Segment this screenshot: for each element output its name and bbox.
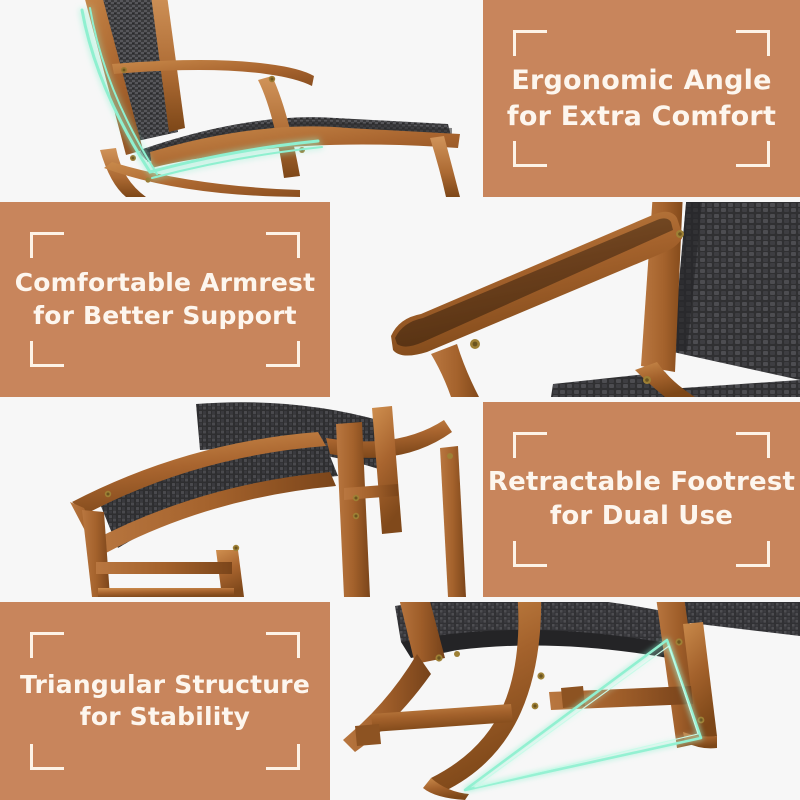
photo-panel-triangular-structure [335,602,800,800]
caption-line-2: for Dual Use [488,500,795,534]
corner-bracket-bottom-right-icon [736,141,770,167]
text-card-ergonomic-angle: Ergonomic Angle for Extra Comfort [483,0,800,197]
feature-caption: Triangular Structure for Stability [6,669,324,734]
photo-panel-retractable-footrest [0,402,478,597]
corner-bracket-top-right-icon [736,30,770,56]
feature-caption: Comfortable Armrest for Better Support [1,267,330,332]
corner-bracket-top-left-icon [513,30,547,56]
caption-line-1: Triangular Structure [20,669,310,702]
text-card-retractable-footrest: Retractable Footrest for Dual Use [483,402,800,597]
text-card-comfortable-armrest: Comfortable Armrest for Better Support [0,202,330,397]
corner-bracket-top-left-icon [30,232,64,258]
caption-line-1: Ergonomic Angle [507,63,776,98]
caption-line-1: Comfortable Armrest [15,267,316,300]
photo-panel-ergonomic-angle [0,0,478,197]
corner-bracket-top-right-icon [266,632,300,658]
feature-caption: Retractable Footrest for Dual Use [483,466,800,534]
caption-line-2: for Stability [20,701,310,734]
caption-line-2: for Better Support [15,300,316,333]
corner-bracket-bottom-right-icon [266,341,300,367]
chair-leg-frame-illustration [335,602,800,800]
corner-bracket-bottom-right-icon [266,744,300,770]
corner-bracket-bottom-right-icon [736,541,770,567]
feature-caption: Ergonomic Angle for Extra Comfort [493,63,790,133]
corner-bracket-bottom-left-icon [30,341,64,367]
corner-bracket-bottom-left-icon [513,541,547,567]
chair-side-view-illustration [0,0,478,197]
text-card-triangular-structure: Triangular Structure for Stability [0,602,330,800]
corner-bracket-bottom-left-icon [513,141,547,167]
corner-bracket-bottom-left-icon [30,744,64,770]
caption-line-1: Retractable Footrest [488,466,795,500]
armrest-closeup-illustration [335,202,800,397]
corner-bracket-top-left-icon [513,432,547,458]
corner-bracket-top-left-icon [30,632,64,658]
corner-bracket-top-right-icon [266,232,300,258]
caption-line-2: for Extra Comfort [507,99,776,134]
corner-bracket-top-right-icon [736,432,770,458]
footrest-illustration [0,402,478,597]
photo-panel-armrest-closeup [335,202,800,397]
product-feature-collage: Ergonomic Angle for Extra Comfort Comfor… [0,0,800,800]
